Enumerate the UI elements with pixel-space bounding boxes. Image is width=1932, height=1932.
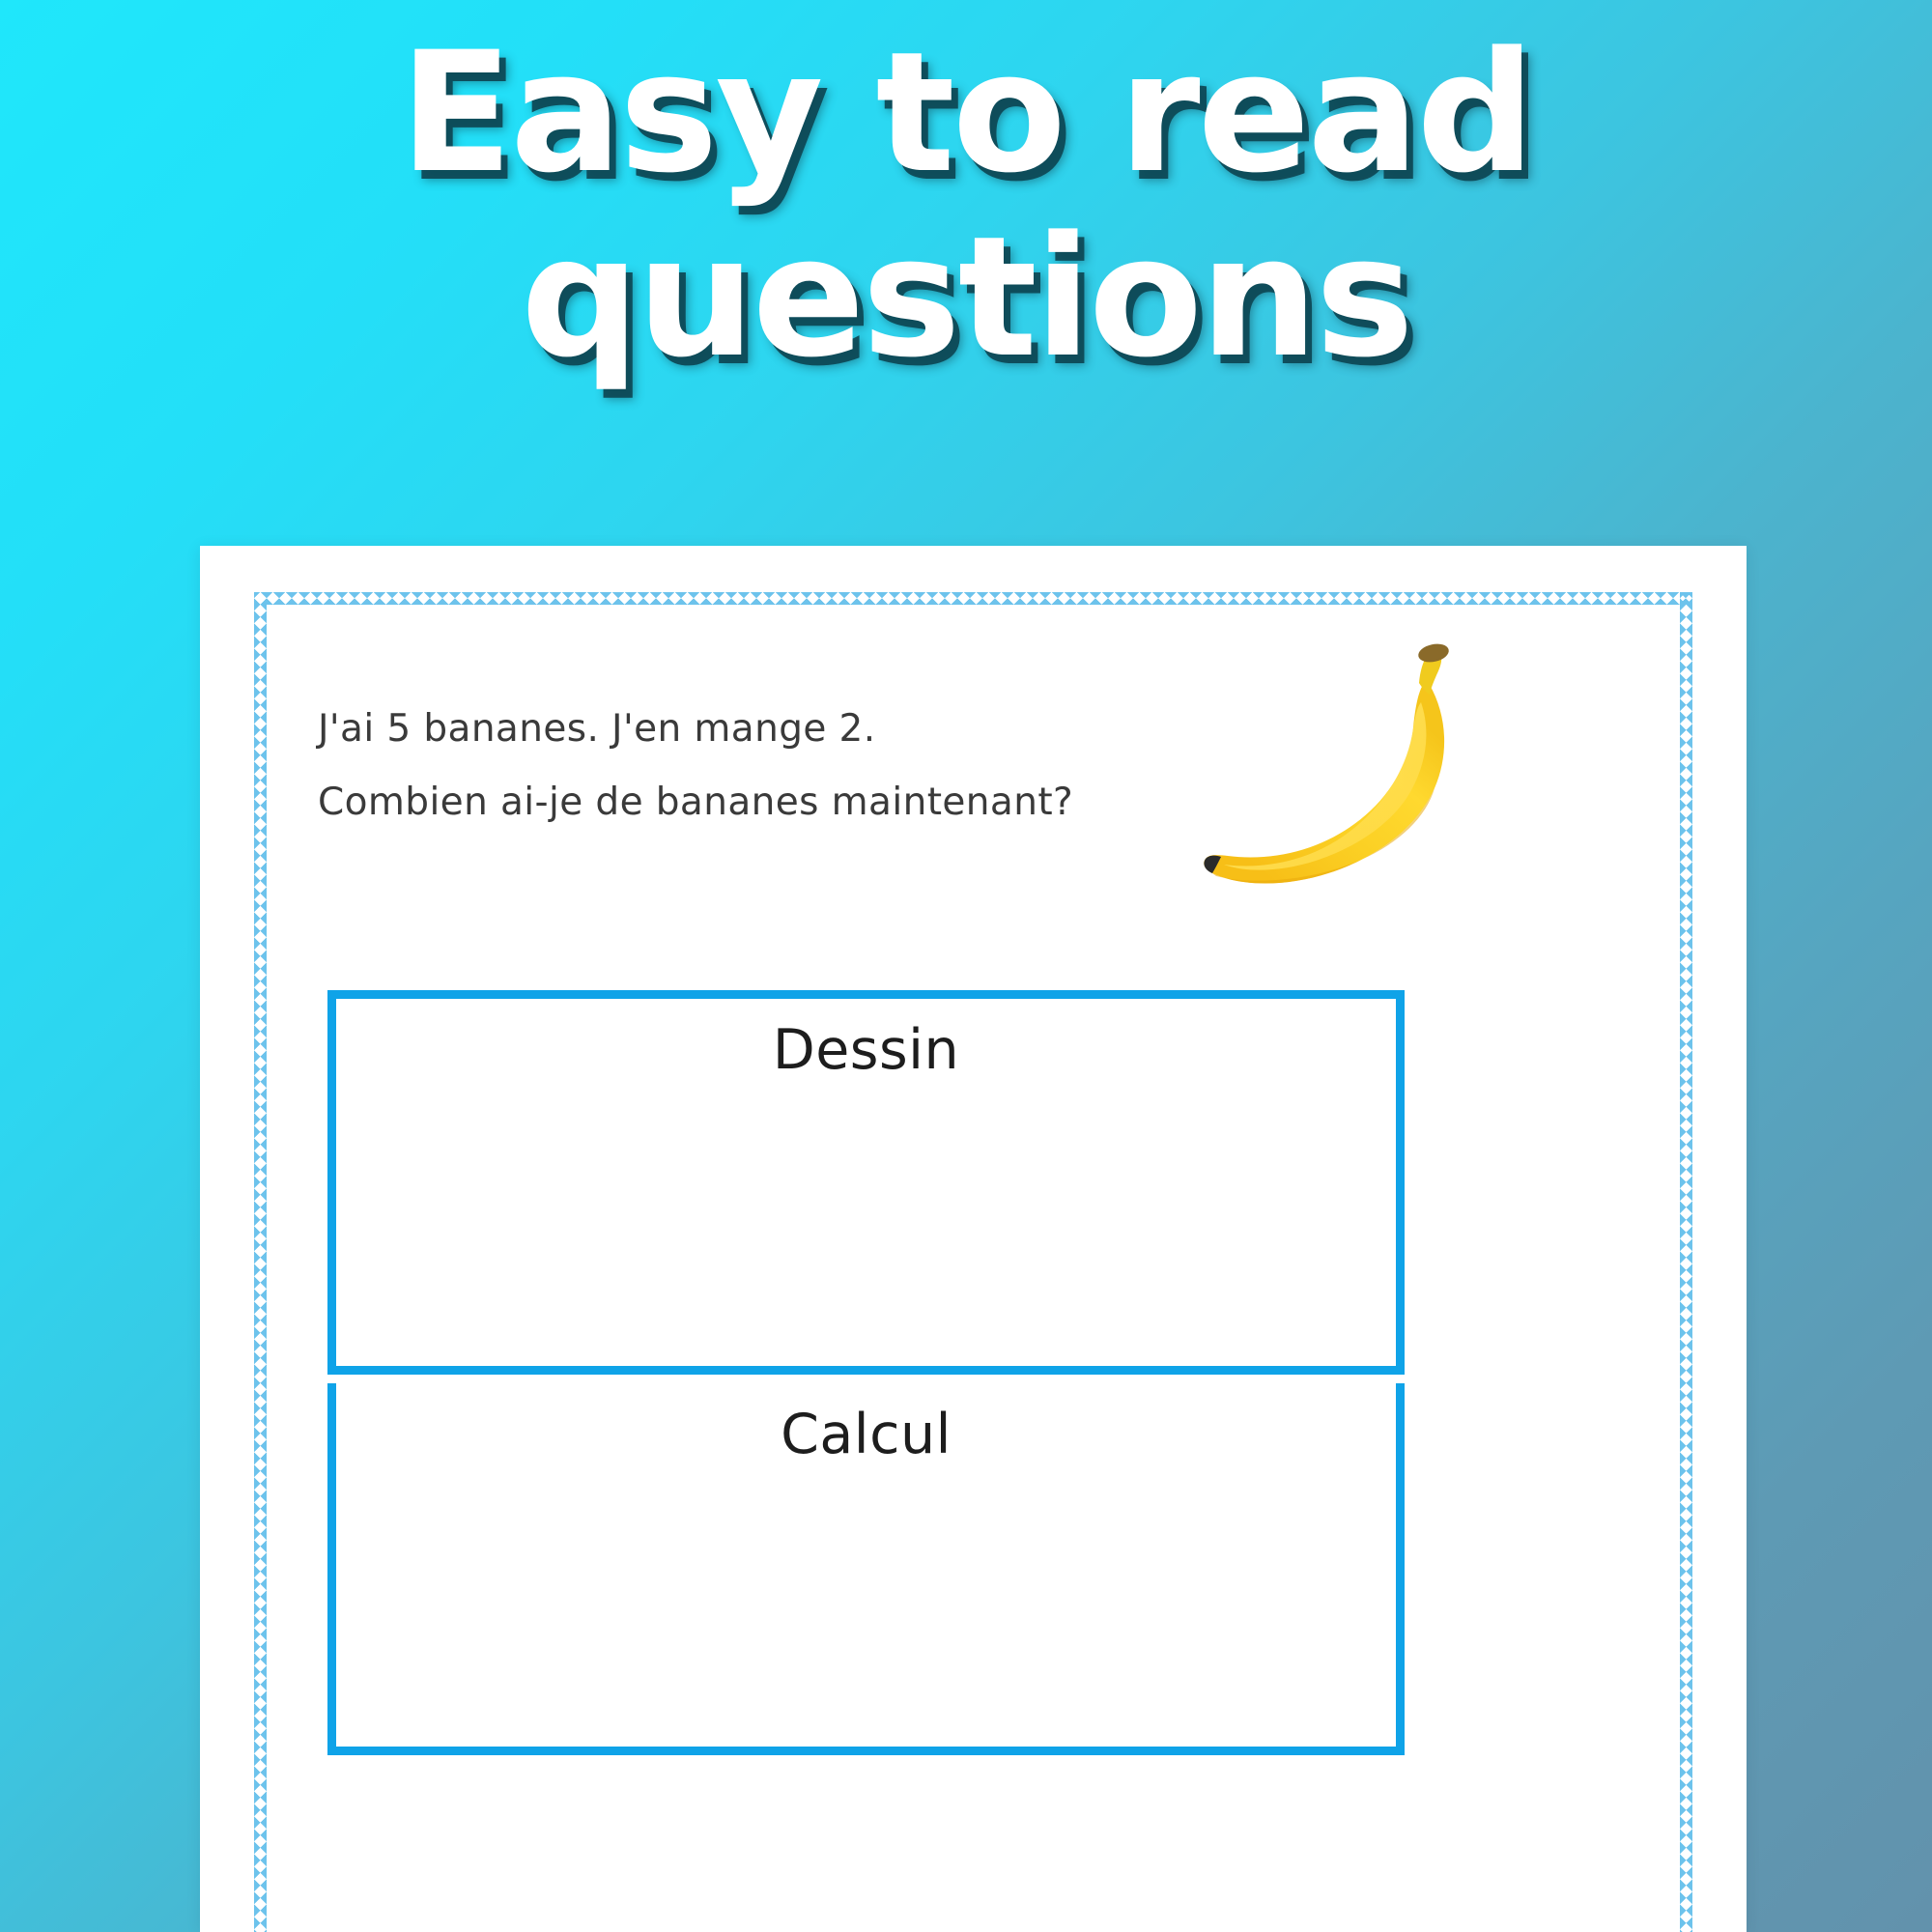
worksheet-page: J'ai 5 bananes. J'en mange 2. Combien ai…	[200, 546, 1747, 1932]
page-title-line-2: questions	[0, 212, 1932, 384]
zigzag-frame-left-edge	[254, 592, 267, 1932]
word-problem-line-1: J'ai 5 bananes. J'en mange 2.	[318, 710, 1187, 748]
poster-canvas: Easy to read questions J'ai 5 bananes. J…	[0, 0, 1932, 1932]
answer-box-calcul-label: Calcul	[336, 1383, 1396, 1466]
page-title: Easy to read questions	[0, 27, 1932, 384]
answer-box-calcul[interactable]: Calcul	[327, 1383, 1405, 1755]
word-problem-line-2: Combien ai-je de bananes maintenant?	[318, 783, 1187, 821]
banana-icon	[1183, 639, 1473, 899]
page-title-line-1: Easy to read	[0, 27, 1932, 200]
answer-box-dessin-label: Dessin	[336, 999, 1396, 1082]
word-problem-text: J'ai 5 bananes. J'en mange 2. Combien ai…	[318, 710, 1187, 821]
zigzag-frame-right-edge	[1680, 592, 1692, 1932]
zigzag-frame-top-edge	[254, 592, 1692, 605]
banana-icon-graphic	[1183, 639, 1473, 899]
banana-stem-cap	[1416, 641, 1450, 665]
answer-boxes-group: Dessin Calcul	[327, 990, 1405, 1755]
answer-box-dessin[interactable]: Dessin	[327, 990, 1405, 1375]
